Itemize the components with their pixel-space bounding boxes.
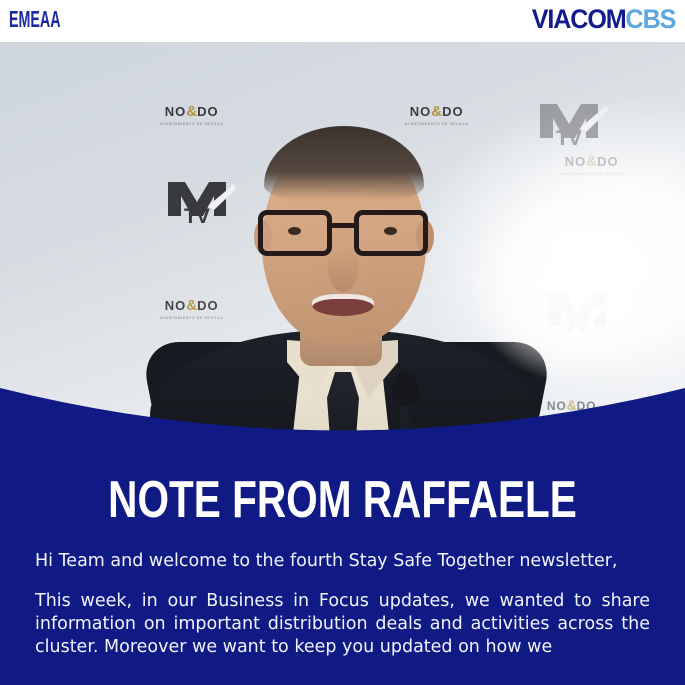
eyeglasses-icon	[256, 210, 432, 256]
curved-divider	[0, 348, 685, 458]
viacomcbs-logo-cbs: CBS	[625, 4, 675, 34]
emeaa-logo: EMEAA	[9, 8, 60, 31]
paragraph-container: Hi Team and welcome to the fourth Stay S…	[0, 550, 685, 659]
paragraph: This week, in our Business in Focus upda…	[35, 590, 650, 659]
page-header: EMEAA VIACOMCBS	[0, 0, 685, 42]
newsletter-page: EMEAA VIACOMCBS NO&DO AYUNTAMIENTO DE SE…	[0, 0, 685, 685]
page-title: NOTE FROM RAFFAELE	[75, 474, 609, 526]
viacomcbs-logo: VIACOMCBS	[532, 6, 675, 33]
viacomcbs-logo-viacom: VIACOM	[532, 4, 626, 34]
article-body: NOTE FROM RAFFAELE Hi Team and welcome t…	[0, 450, 685, 659]
paragraph: Hi Team and welcome to the fourth Stay S…	[35, 550, 650, 573]
